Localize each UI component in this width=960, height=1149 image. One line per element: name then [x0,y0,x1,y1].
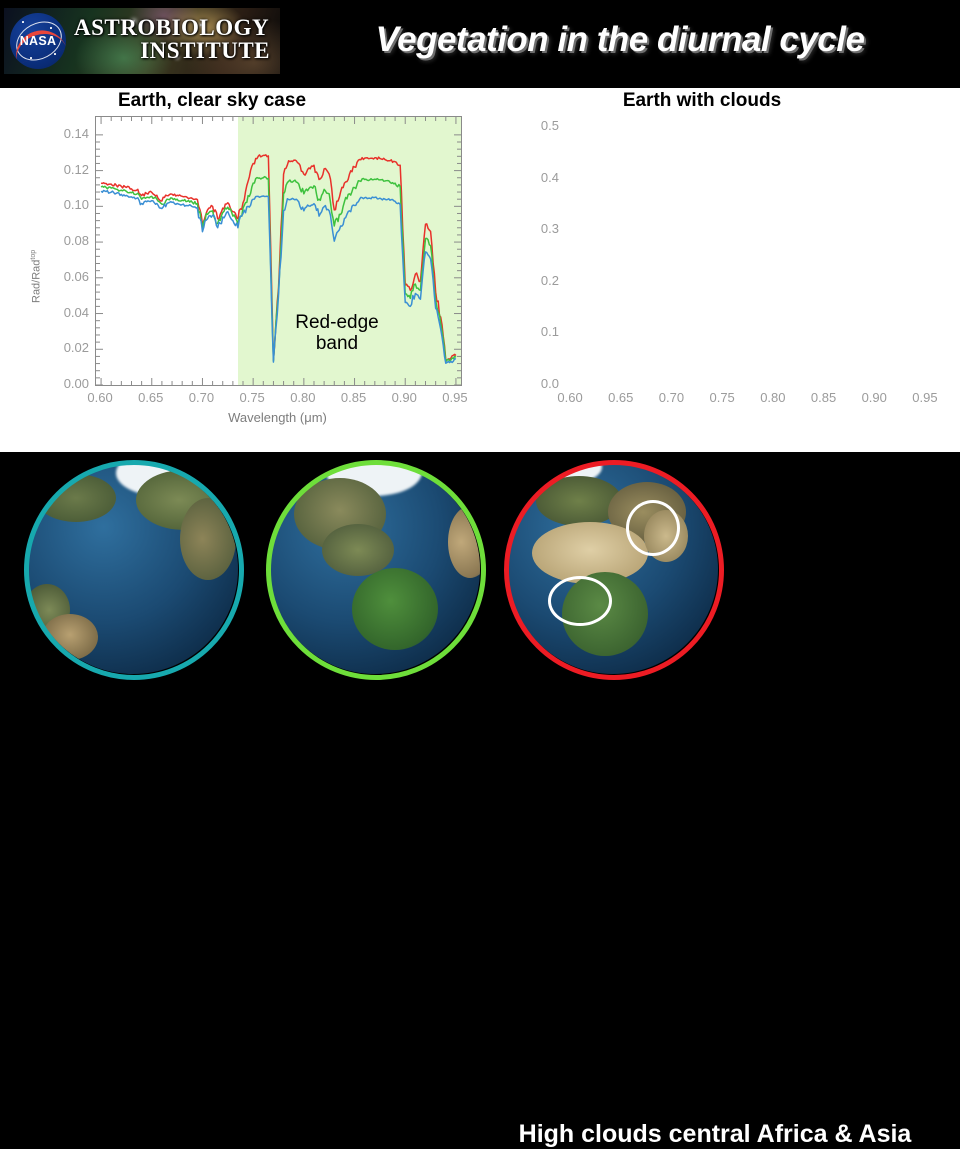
x-axis-tick-label: 0.60 [547,390,593,405]
x-axis-tick-label: 0.85 [331,390,377,405]
y-axis-label-left: Rad/Radtop [30,250,43,303]
y-axis-tick-label: 0.2 [513,273,559,288]
x-axis-label-left: Wavelength (μm) [95,410,460,425]
y-axis-tick-label: 0.0 [513,376,559,391]
nasa-astrobiology-institute-banner: NASA ASTROBIOLOGY INSTITUTE [4,8,280,74]
globe-caption-africa-asia: High clouds central Africa & Asia [480,1120,950,1149]
globe-ring-red [504,460,724,680]
header-bar: NASA ASTROBIOLOGY INSTITUTE Vegetation i… [0,0,960,88]
x-axis-tick-label: 0.95 [902,390,948,405]
chart-title-right: Earth with clouds [462,90,942,112]
x-axis-tick-label: 0.85 [801,390,847,405]
slide-root: NASA ASTROBIOLOGY INSTITUTE Vegetation i… [0,0,960,720]
nasa-wordmark: NASA [10,34,66,48]
globe-pacific-view [28,464,238,674]
x-axis-tick-label: 0.70 [178,390,224,405]
y-axis-tick-label: 0.12 [43,162,89,177]
star-dot-icon [22,21,24,23]
x-axis-tick-label: 0.60 [77,390,123,405]
institute-line-2: INSTITUTE [74,39,274,62]
x-axis-tick-label: 0.90 [381,390,427,405]
y-axis-tick-label: 0.06 [43,269,89,284]
globe-ring-green [266,460,486,680]
y-axis-tick-label: 0.3 [513,221,559,236]
x-axis-tick-label: 0.80 [280,390,326,405]
globe-americas-view [270,464,480,674]
star-dot-icon [54,53,56,55]
y-axis-tick-label: 0.02 [43,340,89,355]
slide-title: Vegetation in the diurnal cycle [340,20,900,60]
globe-ring-teal [24,460,244,680]
institute-line-1: ASTROBIOLOGY [74,16,274,39]
y-axis-tick-label: 0.5 [513,118,559,133]
x-axis-tick-label: 0.70 [648,390,694,405]
x-axis-tick-label: 0.75 [699,390,745,405]
charts-panel: Earth, clear sky case Rad/Radtop Wavelen… [0,88,960,452]
x-axis-tick-label: 0.65 [128,390,174,405]
star-dot-icon [30,57,32,59]
x-axis-tick-label: 0.90 [851,390,897,405]
y-axis-tick-label: 0.00 [43,376,89,391]
x-axis-tick-label: 0.65 [598,390,644,405]
globes-panel: High clouds central Africa & Asia [0,452,960,720]
x-axis-tick-label: 0.80 [750,390,796,405]
x-axis-tick-label: 0.95 [432,390,478,405]
y-axis-tick-label: 0.1 [513,324,559,339]
red-edge-line-1: Red-edge [272,313,402,334]
nasa-logo-icon: NASA [10,13,66,69]
red-edge-line-2: band [272,334,402,355]
globe-africa-asia-view [508,464,718,674]
y-axis-tick-label: 0.10 [43,197,89,212]
red-edge-band-annotation-left: Red-edge band [272,313,402,354]
institute-wordmark: ASTROBIOLOGY INSTITUTE [74,16,274,62]
y-axis-tick-label: 0.08 [43,233,89,248]
chart-title-left: Earth, clear sky case [0,90,452,112]
y-axis-tick-label: 0.4 [513,170,559,185]
y-axis-tick-label: 0.04 [43,305,89,320]
star-dot-icon [50,27,52,29]
y-axis-tick-label: 0.14 [43,126,89,141]
x-axis-tick-label: 0.75 [229,390,275,405]
